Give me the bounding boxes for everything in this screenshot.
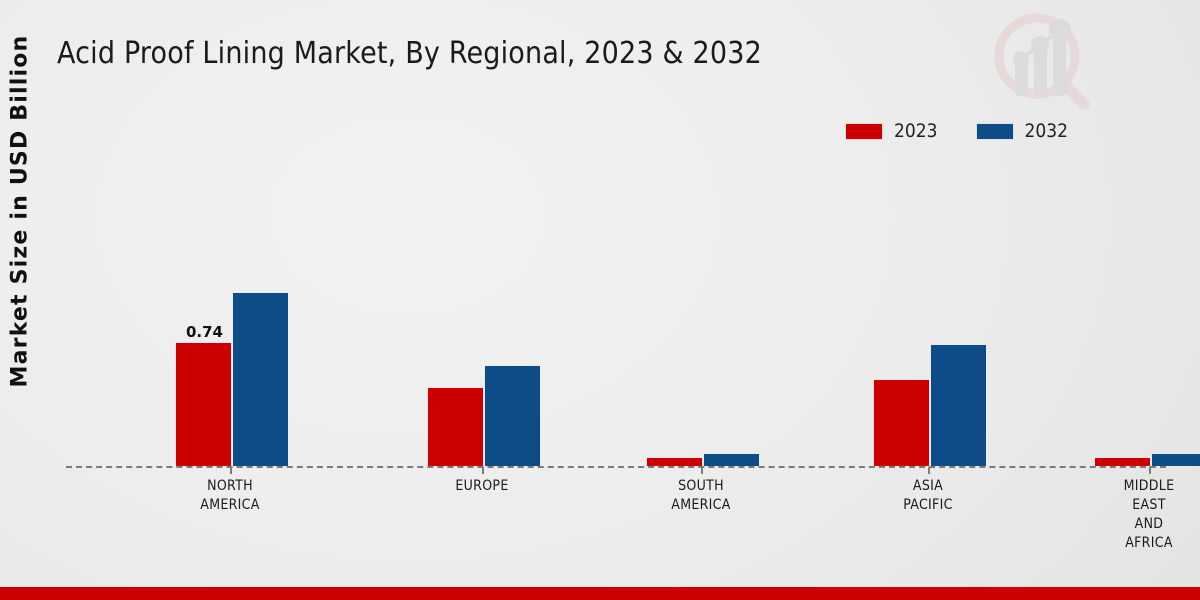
legend-swatch-2032 — [976, 123, 1014, 140]
category-label-line: AMERICA — [160, 496, 300, 515]
bar-pair — [175, 150, 289, 467]
bar-2023[interactable] — [427, 387, 484, 467]
x-axis-tick — [482, 467, 484, 474]
category-label-line: AND — [1079, 515, 1200, 534]
bar-pair — [1094, 150, 1200, 467]
legend-label-2023: 2023 — [894, 120, 938, 142]
bar-2032[interactable] — [703, 453, 760, 467]
bar-pair — [427, 150, 541, 467]
bar-group — [1094, 150, 1200, 467]
category-label-line: PACIFIC — [858, 496, 998, 515]
bar-2032[interactable] — [232, 292, 289, 467]
x-axis-category-label: MIDDLEEASTANDAFRICA — [1079, 477, 1200, 553]
bar-2032[interactable] — [484, 365, 541, 467]
legend-item-2032[interactable]: 2032 — [976, 120, 1069, 142]
x-axis-category-label: NORTHAMERICA — [160, 477, 300, 515]
category-label-line: SOUTH — [631, 477, 771, 496]
bar-2032[interactable] — [1151, 453, 1200, 467]
legend-item-2023[interactable]: 2023 — [845, 120, 938, 142]
x-axis-tick — [928, 467, 930, 474]
bar-value-label: 0.74 — [177, 323, 232, 341]
x-axis-category-label: EUROPE — [412, 477, 552, 496]
category-label-line: ASIA — [858, 477, 998, 496]
bar-group: 0.74 — [175, 150, 285, 467]
category-label-line: NORTH — [160, 477, 300, 496]
category-label-line: MIDDLE — [1079, 477, 1200, 496]
legend-swatch-2023 — [845, 123, 883, 140]
category-label-line: AFRICA — [1079, 534, 1200, 553]
x-axis-baseline — [66, 466, 1166, 468]
chart-title: Acid Proof Lining Market, By Regional, 2… — [57, 36, 762, 71]
x-axis-category-label: ASIAPACIFIC — [858, 477, 998, 515]
chart-figure: Acid Proof Lining Market, By Regional, 2… — [0, 0, 1200, 600]
chart-legend: 2023 2032 — [845, 120, 1068, 142]
legend-label-2032: 2032 — [1025, 120, 1069, 142]
category-label-line: EUROPE — [412, 477, 552, 496]
category-label-line: EAST — [1079, 496, 1200, 515]
x-axis-tick — [230, 467, 232, 474]
bar-2023[interactable] — [873, 379, 930, 467]
bar-2023[interactable] — [175, 342, 232, 467]
bar-group — [873, 150, 983, 467]
y-axis-title: Market Size in USD Billion — [8, 38, 33, 388]
watermark-logo-icon — [985, 6, 1095, 114]
x-axis-category-label: SOUTHAMERICA — [631, 477, 771, 515]
x-axis-tick — [701, 467, 703, 474]
x-axis-tick — [1149, 467, 1151, 474]
bar-2032[interactable] — [930, 344, 987, 467]
footer-accent-bar — [0, 587, 1200, 600]
plot-area: 0.74NORTHAMERICAEUROPESOUTHAMERICAASIAPA… — [66, 150, 1166, 467]
category-label-line: AMERICA — [631, 496, 771, 515]
bar-pair — [873, 150, 987, 467]
bar-group — [646, 150, 756, 467]
bar-pair — [646, 150, 760, 467]
bar-group — [427, 150, 537, 467]
